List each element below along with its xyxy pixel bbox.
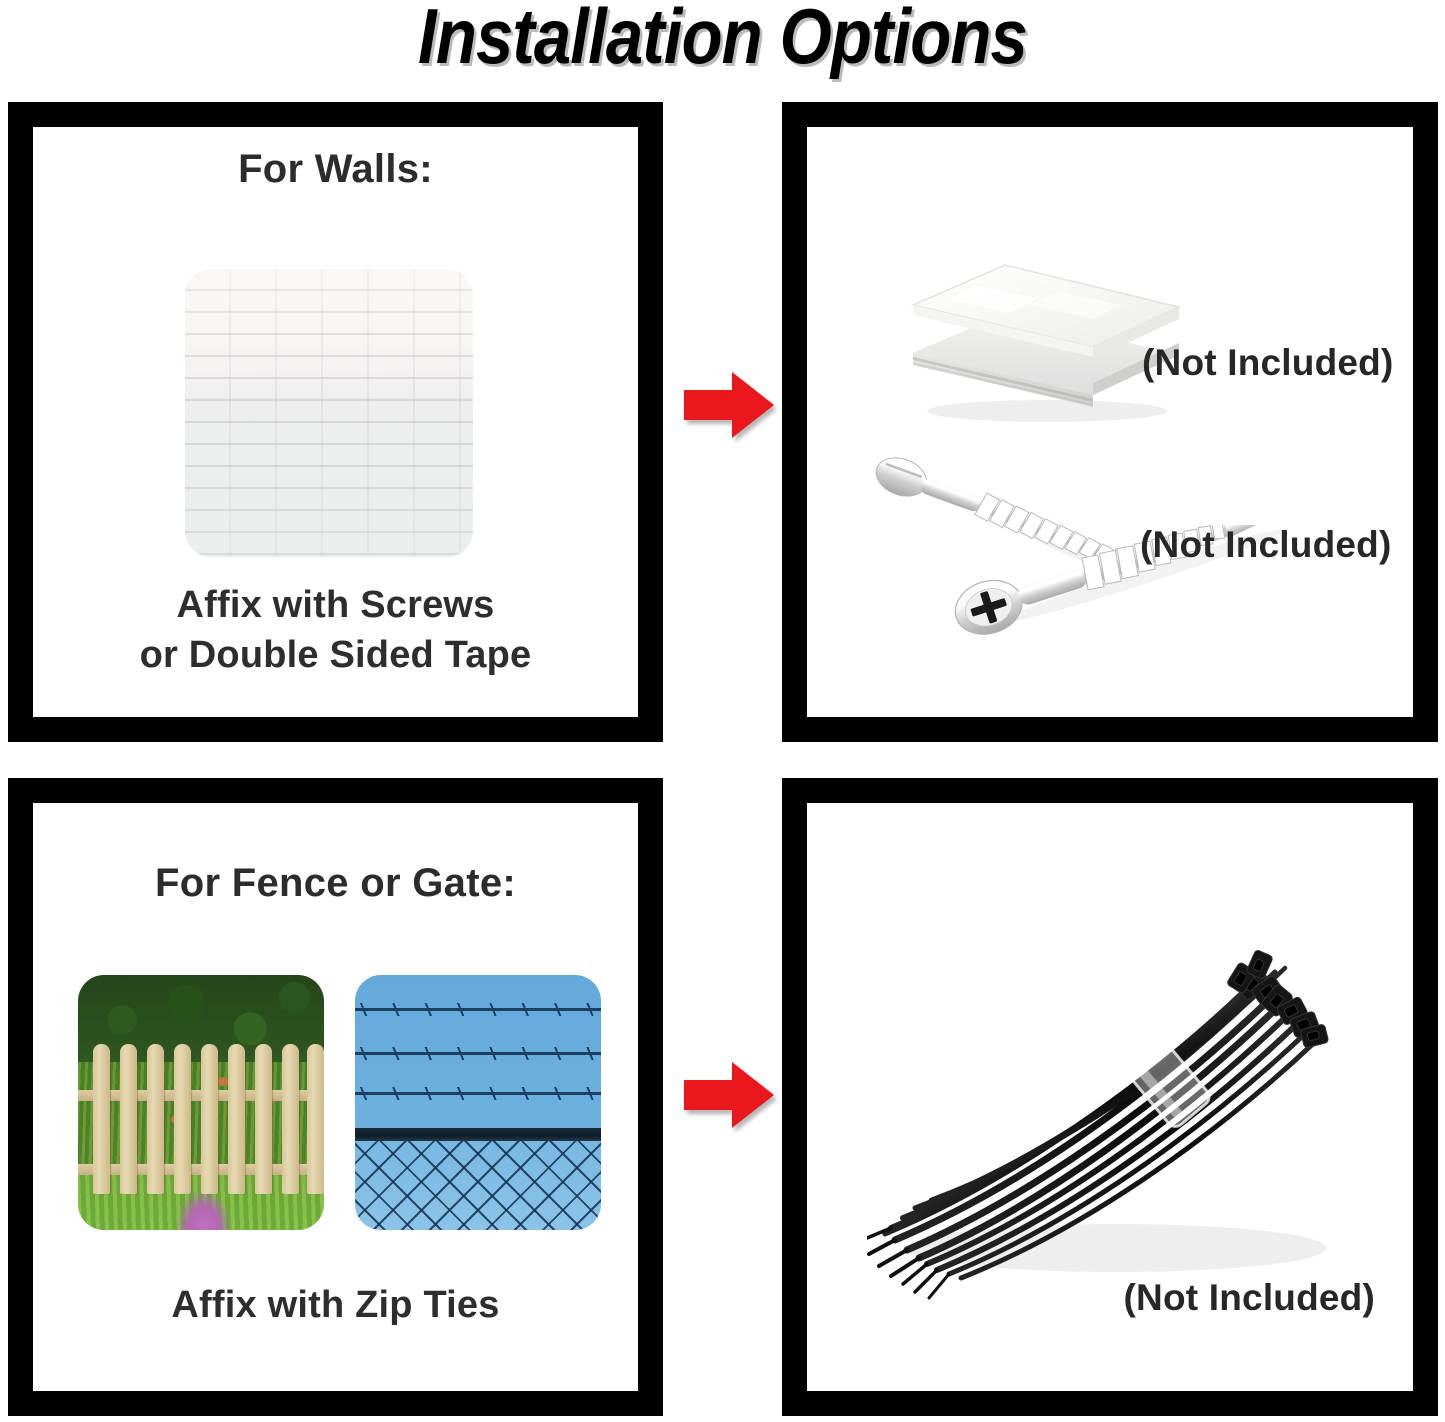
panel-for-walls: For Walls: Affix with Screws or Double S… <box>8 102 663 742</box>
installation-options-infographic: Installation Options For Walls: Affix wi… <box>0 0 1445 1422</box>
panel-heading-fence: For Fence or Gate: <box>33 861 638 906</box>
red-arrow-right-icon <box>684 368 774 442</box>
ziptie-not-included-label: (Not Included) <box>1124 1277 1375 1319</box>
caption-line-2: or Double Sided Tape <box>33 630 638 681</box>
zip-tie-bundle-icon <box>867 898 1377 1318</box>
panel-caption-walls: Affix with Screws or Double Sided Tape <box>33 580 638 681</box>
caption-line-1: Affix with Screws <box>33 580 638 631</box>
tape-not-included-label: (Not Included) <box>1142 342 1393 384</box>
white-brick-wall-image <box>185 269 473 557</box>
chain-link-fence-photo <box>355 975 601 1230</box>
panel-caption-fence: Affix with Zip Ties <box>33 1280 638 1331</box>
red-arrow-right-icon <box>684 1058 774 1132</box>
page-title: Installation Options <box>101 0 1344 78</box>
picket-fence-photo <box>78 975 324 1230</box>
panel-zip-ties: (Not Included) <box>782 778 1438 1416</box>
panel-heading-walls: For Walls: <box>33 147 638 192</box>
panel-for-fence-or-gate: For Fence or Gate: <box>8 778 663 1416</box>
double-sided-tape-stack-icon <box>897 235 1187 425</box>
screw-not-included-label: (Not Included) <box>1140 524 1391 566</box>
caption-line-1: Affix with Zip Ties <box>33 1280 638 1331</box>
panel-wall-hardware: (Not Included) <box>782 102 1438 742</box>
